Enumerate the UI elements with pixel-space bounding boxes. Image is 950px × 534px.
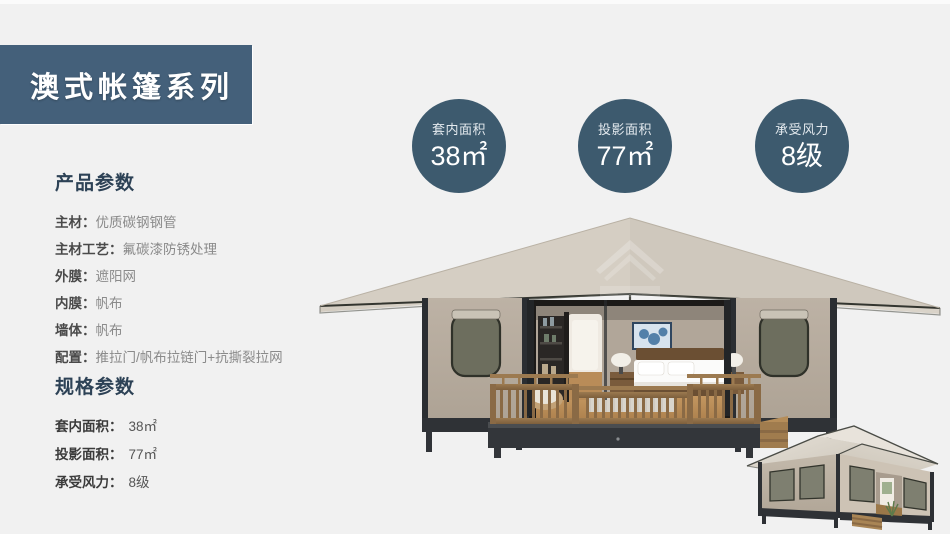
param-row: 配置：推拉门/帆布拉链门+抗撕裂拉网 — [55, 344, 283, 371]
param-label: 外膜： — [55, 269, 96, 284]
title-banner: 澳式帐篷系列 — [0, 45, 252, 124]
stat-badge-unit: ㎡ — [627, 141, 654, 171]
product-parameters-heading: 产品参数 — [55, 168, 283, 195]
param-row: 主材：优质碳钢钢管 — [55, 209, 283, 236]
param-label: 墙体： — [55, 323, 96, 338]
spec-label: 投影面积： — [55, 447, 123, 462]
param-label: 主材： — [55, 215, 96, 230]
param-value: 推拉门/帆布拉链门+抗撕裂拉网 — [96, 350, 283, 365]
spec-row: 套内面积：38㎡ — [55, 413, 157, 441]
stat-badge-value: 77㎡ — [596, 143, 653, 170]
stat-badge-caption: 套内面积 — [432, 123, 486, 136]
stat-badge-wind-resistance: 承受风力 8级 — [755, 99, 849, 193]
param-row: 墙体：帆布 — [55, 317, 283, 344]
param-row: 内膜：帆布 — [55, 290, 283, 317]
spec-row: 承受风力：8级 — [55, 469, 157, 497]
stat-badge-unit: ㎡ — [461, 141, 488, 171]
stat-badge-projected-area: 投影面积 77㎡ — [578, 99, 672, 193]
secondary-tent-image — [742, 418, 950, 534]
param-row: 主材工艺：氟碳漆防锈处理 — [55, 236, 283, 263]
param-label: 内膜： — [55, 296, 96, 311]
stat-badge-value: 8级 — [781, 143, 823, 170]
product-parameters-section: 产品参数 主材：优质碳钢钢管 主材工艺：氟碳漆防锈处理 外膜：遮阳网 内膜：帆布… — [55, 168, 283, 371]
spec-row: 投影面积：77㎡ — [55, 441, 157, 469]
spec-label: 套内面积： — [55, 419, 123, 434]
param-value: 帆布 — [96, 296, 123, 311]
spec-value: 38㎡ — [129, 419, 158, 434]
param-value: 帆布 — [96, 323, 123, 338]
param-row: 外膜：遮阳网 — [55, 263, 283, 290]
spec-value: 8级 — [129, 475, 150, 490]
slide-canvas: 澳式帐篷系列 产品参数 主材：优质碳钢钢管 主材工艺：氟碳漆防锈处理 外膜：遮阳… — [0, 0, 950, 534]
stat-badge-indoor-area: 套内面积 38㎡ — [412, 99, 506, 193]
banner-title: 澳式帐篷系列 — [30, 64, 234, 106]
spec-parameters-heading: 规格参数 — [55, 372, 157, 399]
param-label: 主材工艺： — [55, 242, 123, 257]
spec-value: 77㎡ — [129, 447, 158, 462]
stat-badge-number: 77 — [596, 141, 626, 171]
stat-badge-caption: 承受风力 — [775, 123, 829, 136]
stat-badge-value: 38㎡ — [430, 143, 487, 170]
param-value: 遮阳网 — [96, 269, 137, 284]
stat-badge-caption: 投影面积 — [598, 123, 652, 136]
param-label: 配置： — [55, 350, 96, 365]
stat-badge-number: 38 — [430, 141, 460, 171]
param-value: 优质碳钢钢管 — [96, 215, 177, 230]
stat-badge-number: 8级 — [781, 141, 823, 171]
spec-parameters-section: 规格参数 套内面积：38㎡ 投影面积：77㎡ 承受风力：8级 — [55, 372, 157, 497]
spec-label: 承受风力： — [55, 475, 123, 490]
param-value: 氟碳漆防锈处理 — [123, 242, 218, 257]
top-edge-strip — [0, 0, 950, 4]
